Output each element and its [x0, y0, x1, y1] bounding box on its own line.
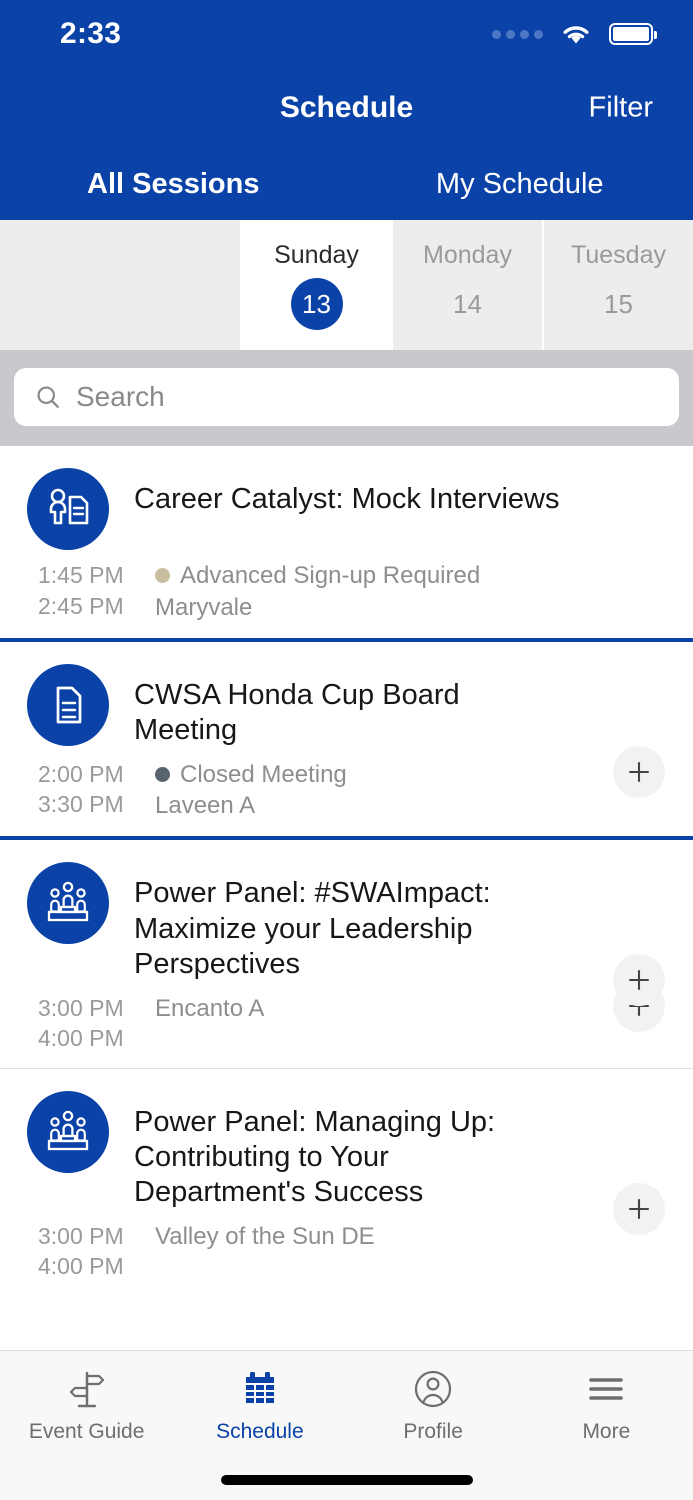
session-details: Closed Meeting Laveen A — [143, 759, 347, 823]
date-item-sunday[interactable]: Sunday 13 — [240, 220, 391, 350]
hamburger-icon — [587, 1367, 625, 1411]
navigation-bar: Schedule Filter — [0, 68, 693, 148]
person-document-icon — [27, 468, 109, 550]
tab-more[interactable]: More — [520, 1351, 693, 1460]
date-item-name: Sunday — [274, 241, 359, 270]
search-input[interactable]: Search — [14, 368, 679, 426]
session-meta: 1:45 PM 2:45 PM Advanced Sign-up Require… — [0, 560, 693, 624]
session-end-time: 4:00 PM — [38, 1023, 143, 1054]
person-circle-icon — [413, 1367, 453, 1411]
signpost-icon — [68, 1367, 106, 1411]
session-end-time: 2:45 PM — [38, 591, 143, 622]
tab-label: Event Guide — [29, 1420, 145, 1444]
add-session-button[interactable] — [613, 746, 665, 798]
session-meta: 3:00 PM 4:00 PM Encanto A — [0, 993, 693, 1054]
session-start-time: 1:45 PM — [38, 560, 143, 591]
tab-label: More — [582, 1420, 630, 1444]
search-bar-container: Search — [0, 350, 693, 446]
session-times: 2:00 PM 3:30 PM — [38, 759, 143, 823]
status-label: Closed Meeting — [180, 759, 347, 791]
bottom-tab-bar: Event Guide Schedule — [0, 1350, 693, 1460]
home-indicator[interactable] — [221, 1475, 473, 1485]
date-item-number: 14 — [453, 278, 482, 330]
session-times: 1:45 PM 2:45 PM — [38, 560, 143, 624]
date-item-number: 15 — [604, 278, 633, 330]
date-selector[interactable]: Sunday 13 Monday 14 Tuesday 15 — [0, 220, 693, 350]
home-indicator-area — [0, 1460, 693, 1500]
date-item-number: 13 — [291, 278, 343, 330]
session-details: Encanto A — [143, 993, 264, 1054]
session-card-top: CWSA Honda Cup Board Meeting — [0, 664, 693, 749]
tab-all-sessions[interactable]: All Sessions — [0, 148, 347, 220]
session-meta: 2:00 PM 3:30 PM Closed Meeting Laveen A — [0, 759, 693, 823]
date-item-name: Tuesday — [571, 241, 666, 270]
tab-label: Profile — [403, 1420, 463, 1444]
status-bar-indicators — [492, 22, 653, 46]
tab-schedule[interactable]: Schedule — [173, 1351, 346, 1460]
wifi-icon — [559, 22, 593, 46]
session-location: Maryvale — [155, 592, 480, 624]
status-bar-time: 2:33 — [60, 17, 121, 51]
session-card-top: Power Panel: Managing Up: Contributing t… — [0, 1091, 693, 1211]
session-title: CWSA Honda Cup Board Meeting — [109, 664, 564, 749]
session-location: Encanto A — [155, 993, 264, 1025]
session-details: Advanced Sign-up Required Maryvale — [143, 560, 480, 624]
plus-icon — [626, 1196, 652, 1222]
app-screen: 2:33 Schedule Filter All Sessions My Sch… — [0, 0, 693, 1500]
date-item-name: Monday — [423, 241, 512, 270]
status-bar: 2:33 — [0, 0, 693, 68]
session-title: Career Catalyst: Mock Interviews — [109, 468, 559, 517]
status-dot — [155, 767, 170, 782]
session-start-time: 2:00 PM — [38, 759, 143, 790]
session-title: Power Panel: #SWAImpact: Maximize your L… — [109, 862, 564, 982]
session-card[interactable]: Career Catalyst: Mock Interviews 1:45 PM… — [0, 446, 693, 638]
session-end-time: 4:00 PM — [38, 1251, 143, 1282]
tab-profile[interactable]: Profile — [347, 1351, 520, 1460]
status-label: Advanced Sign-up Required — [180, 560, 480, 592]
session-card-top: Power Panel: #SWAImpact: Maximize your L… — [0, 862, 693, 982]
cellular-dots-icon — [492, 30, 543, 39]
search-placeholder: Search — [76, 381, 165, 413]
session-times: 3:00 PM 4:00 PM — [38, 1221, 143, 1282]
date-item-monday[interactable]: Monday 14 — [391, 220, 542, 350]
session-times: 3:00 PM 4:00 PM — [38, 993, 143, 1054]
session-details: Valley of the Sun DE — [143, 1221, 375, 1282]
status-badge: Advanced Sign-up Required — [155, 560, 480, 592]
session-card[interactable]: Power Panel: #SWAImpact: Maximize your L… — [0, 840, 693, 1067]
status-dot — [155, 568, 170, 583]
session-title: Power Panel: Managing Up: Contributing t… — [109, 1091, 564, 1211]
page-title: Schedule — [280, 91, 413, 125]
add-session-button[interactable] — [613, 954, 665, 1006]
app-header: 2:33 Schedule Filter All Sessions My Sch… — [0, 0, 693, 220]
plus-icon — [626, 967, 652, 993]
session-meta: 3:00 PM 4:00 PM Valley of the Sun DE — [0, 1221, 693, 1282]
session-card[interactable]: Power Panel: Managing Up: Contributing t… — [0, 1069, 693, 1296]
date-item-tuesday[interactable]: Tuesday 15 — [542, 220, 693, 350]
tab-label: Schedule — [216, 1420, 304, 1444]
document-icon — [27, 664, 109, 746]
segmented-control: All Sessions My Schedule — [0, 148, 693, 220]
session-card[interactable]: CWSA Honda Cup Board Meeting 2:00 PM 3:3… — [0, 642, 693, 837]
session-end-time: 3:30 PM — [38, 789, 143, 820]
status-badge: Closed Meeting — [155, 759, 347, 791]
battery-full-icon — [609, 23, 653, 45]
session-start-time: 3:00 PM — [38, 1221, 143, 1252]
session-list[interactable]: Career Catalyst: Mock Interviews 1:45 PM… — [0, 446, 693, 1350]
filter-button[interactable]: Filter — [589, 92, 653, 125]
session-card-top: Career Catalyst: Mock Interviews — [0, 468, 693, 550]
calendar-icon — [241, 1367, 279, 1411]
session-location: Laveen A — [155, 790, 347, 822]
panel-podium-icon — [27, 1091, 109, 1173]
session-location: Valley of the Sun DE — [155, 1221, 375, 1253]
plus-icon — [626, 759, 652, 785]
panel-podium-icon — [27, 862, 109, 944]
tab-event-guide[interactable]: Event Guide — [0, 1351, 173, 1460]
tab-my-schedule[interactable]: My Schedule — [347, 148, 693, 220]
date-strip-spacer — [0, 220, 240, 350]
add-session-button[interactable] — [613, 1183, 665, 1235]
search-icon — [34, 383, 62, 411]
session-start-time: 3:00 PM — [38, 993, 143, 1024]
